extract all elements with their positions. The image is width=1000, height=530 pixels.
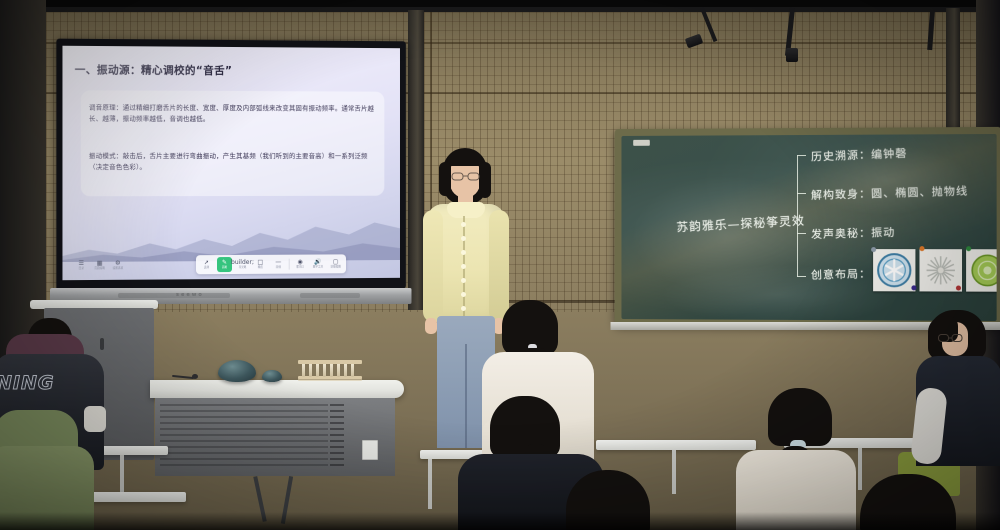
toolbar-center-label-4: 直线 [276,266,281,269]
small-bowl [262,370,282,382]
cardigan-button [461,292,466,297]
slide-paragraph-2: 振动模式：敲击后，舌片主要进行弯曲振动，产生其基频（我们听到的主要音高）和一系列… [89,151,380,172]
pen-glyph: ✎ [222,260,227,266]
gear-glyph: ⚙ [115,260,120,266]
projection-screen[interactable]: 一、振动源：精心调校的“音舌” 调音原理：通过精细打磨舌片的长度、宽度、厚度及内… [62,46,400,280]
chime-tube [302,363,305,377]
toolbar-right-label-2: 屏幕截图 [331,266,341,269]
poster-white-art [919,249,962,291]
target-glyph: ◉ [298,259,303,265]
toolbar-divider [289,259,290,270]
chime-rack-shelf [298,378,362,381]
toolbar-right-label-1: 教学工具 [313,266,323,269]
toolbar-center-label-3: 橡皮 [258,267,263,270]
desk-leg [428,459,432,509]
chime-tube [337,363,340,377]
target-icon[interactable]: ◉ 聚光灯 [293,257,308,272]
toolbar-left-label-0: 目录 [79,268,84,271]
demo-table-vents [330,404,344,470]
ceiling-shadow [0,0,1000,7]
grid-icon[interactable]: ▦ 页面缩略 [92,258,107,273]
megaphone-glyph: 🔊 [314,259,321,265]
mountain-graphic [62,199,400,262]
chime-tube [309,363,312,377]
glasses-icon [451,172,481,182]
chime-tube [351,363,354,377]
chalkboard-surface: 苏韵雅乐—探秘筝灵效 历史溯源：编钟磬 解构致身：圆、椭圆、抛物线 发声奥秘：振… [621,134,996,321]
chalk-outline-3: 创意布局： [811,265,871,282]
teacher-hand-left [425,318,437,334]
camera-icon[interactable]: ▢ 屏幕截图 [328,256,343,271]
eraser-glyph: □ [258,260,264,266]
jacket-text: NING [0,372,54,394]
toolbar-left-label-1: 页面缩略 [94,268,105,271]
magnet [911,285,916,290]
eraser-icon[interactable]: □ 橡皮 [253,257,268,272]
interactive-whiteboard[interactable]: 一、振动源：精心调校的“音舌” 调音原理：通过精细打磨舌片的长度、宽度、厚度及内… [56,39,405,292]
magnet [919,246,924,251]
chalk-outline-2: 发声奥秘：振动 [811,224,896,242]
cardigan-button [461,222,466,227]
list-icon[interactable]: ☰ 目录 [74,258,89,273]
cardigan-button [461,250,466,255]
chassis-vent [300,293,360,298]
demo-table-top [150,380,404,398]
ceiling-speaker [786,48,798,62]
teacher-sleeve-left [423,210,443,322]
toolbar-right-label-0: 聚光灯 [296,266,304,269]
megaphone-icon[interactable]: 🔊 教学工具 [311,256,326,271]
toolbar-left-label-2: 设置选项 [113,267,124,270]
demo-table-vents [160,404,328,470]
chime-tube [323,363,326,377]
power-outlet [362,440,378,460]
toolbar-center-label-1: 画笔 [222,267,227,270]
chime-tube [330,363,333,377]
mallet-head [192,374,198,379]
poster-blue-art [873,249,915,291]
magnet [956,286,961,291]
teacher-fringe [447,152,484,166]
slide-paragraph-1: 调音原理：通过精细打磨舌片的长度、宽度、厚度及内部弧线来改变其固有振动频率。通常… [89,102,380,124]
teacher-collar [447,202,485,218]
chalkboard: 苏韵雅乐—探秘筝灵效 历史溯源：编钟磬 解构致身：圆、椭圆、抛物线 发声奥秘：振… [615,127,1000,327]
grid-glyph: ▦ [97,260,103,266]
cardigan-button [461,306,466,311]
desk-leg [672,450,676,494]
pen-icon[interactable]: ✎ 画笔 [217,257,232,272]
cardigan-button [461,264,466,269]
singing-bowl [218,360,256,382]
slide-toolbar-center[interactable]: ➚ 选择 ✎ 画笔 builder; 荨光笔 □ 橡皮 — 直线 [196,254,346,274]
toolbar-center-label-2: 荨光笔 [239,267,247,270]
camera-glyph: ▢ [333,259,339,265]
list-glyph: ☰ [79,261,84,267]
highlighter-glyph: builder; [231,260,254,266]
poster-blue-mandala [873,249,915,291]
cardigan-button [461,278,466,283]
cursor-icon[interactable]: ➚ 选择 [199,257,214,272]
frame-bottom-shadow [0,512,1000,530]
bracket-tick [797,276,806,277]
student-desk [596,440,756,450]
toolbar-center-label-0: 选择 [204,267,209,270]
slide-heading: 一、振动源：精心调校的“音舌” [75,62,233,78]
slide-toolbar-left[interactable]: ☰ 目录 ▦ 页面缩略 ⚙ 设置选项 [71,256,129,276]
chalk-eraser[interactable] [633,140,650,146]
chime-tube [344,363,347,377]
outline-bracket [797,155,798,277]
poster-white-radial [919,249,962,291]
highlighter-icon[interactable]: builder; 荨光笔 [235,257,250,272]
line-glyph: — [275,259,281,265]
magnet [871,247,876,252]
device-brand-label: seewo [176,292,204,298]
chime-rack-bar [298,360,362,364]
poster-green-circle [966,249,997,292]
line-icon[interactable]: — 直线 [271,257,286,272]
student-hair [768,388,832,446]
classroom-scene: 一、振动源：精心调校的“音舌” 调音原理：通过精细打磨舌片的长度、宽度、厚度及内… [0,0,1000,530]
teacher-hair-side [439,162,451,196]
chassis-vent [118,293,230,298]
chime-tube [316,363,319,377]
bracket-tick [797,155,806,156]
magnet [966,246,971,251]
glasses-icon [938,334,964,343]
bracket-tick [797,233,806,234]
gear-icon[interactable]: ⚙ 设置选项 [110,258,125,273]
cardigan-button [461,236,466,241]
poster-green-art [966,249,997,292]
cursor-glyph: ➚ [204,260,209,266]
bracket-tick [797,193,806,194]
